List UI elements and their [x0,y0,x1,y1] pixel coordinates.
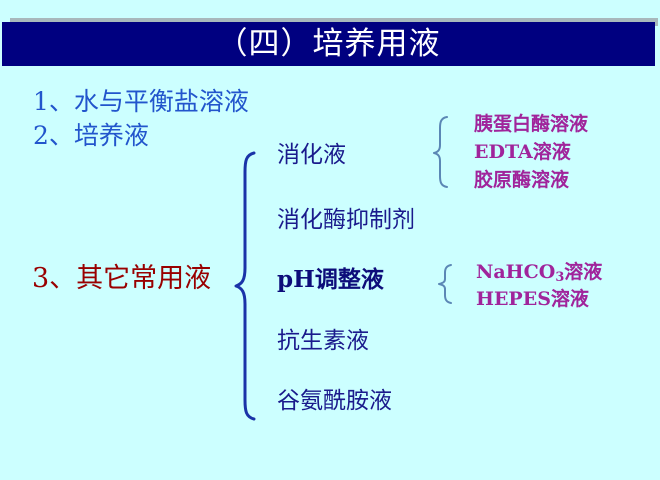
digestive-item-edta: EDTA溶液 [474,143,571,162]
ph-item-nahco3-suffix: 溶液 [564,261,602,283]
ph-item-hepes: HEPES溶液 [476,290,589,309]
outline-item-3: 3、其它常用液 [32,265,211,292]
middle-item-enzyme-inhibitor: 消化酶抑制剂 [277,209,415,232]
page-title: （四）培养用液 [217,29,441,60]
ph-item-nahco3: NaHCO3溶液 [476,263,602,285]
title-band: （四）培养用液 [2,22,655,66]
digestive-brace [432,115,450,189]
middle-item-antibiotic: 抗生素液 [277,330,369,353]
ph-brace [437,263,453,305]
ph-item-nahco3-subscript: 3 [555,270,564,285]
ph-item-nahco3-prefix: NaHCO [476,261,555,283]
middle-item-digestive-solution: 消化液 [277,144,346,167]
digestive-item-collagenase: 胶原酶溶液 [474,171,569,190]
outline-item-1: 1、水与平衡盐溶液 [33,89,249,114]
outline-item-2: 2、培养液 [33,123,149,148]
slide-canvas: （四）培养用液 1、水与平衡盐溶液 2、培养液 3、其它常用液 消化液 消化酶抑… [0,0,660,480]
middle-item-glutamine: 谷氨酰胺液 [277,390,392,413]
main-brace [233,150,257,422]
middle-item-ph-adjust: pH调整液 [277,268,384,291]
digestive-item-trypsin: 胰蛋白酶溶液 [474,115,588,134]
